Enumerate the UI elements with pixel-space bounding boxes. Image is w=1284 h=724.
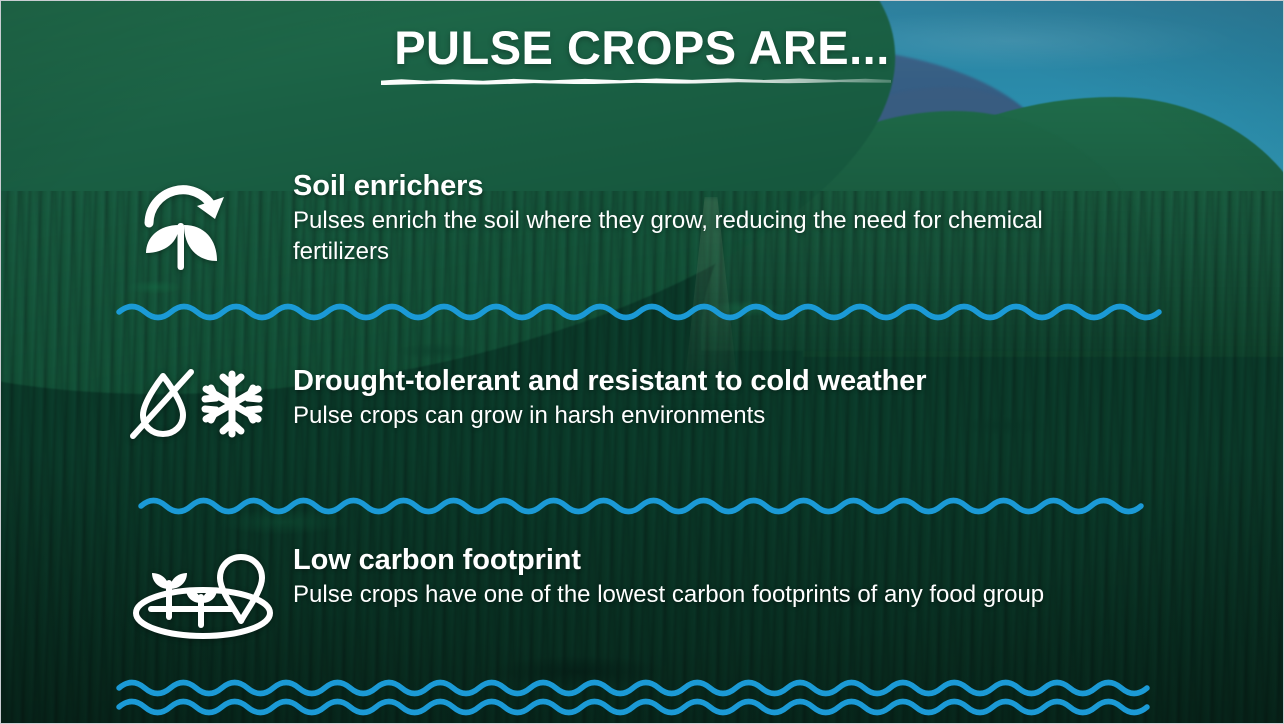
sprouts-field-icon	[129, 543, 279, 643]
feature-heading: Drought-tolerant and resistant to cold w…	[293, 364, 1189, 398]
no-water-snowflake-icon	[129, 364, 279, 440]
wavy-divider-4	[119, 696, 1147, 718]
feature-heading: Soil enrichers	[293, 169, 1189, 203]
wavy-divider-1	[119, 301, 1159, 323]
feature-body: Pulse crops have one of the lowest carbo…	[293, 579, 1103, 610]
soil-renewal-icon	[129, 169, 279, 277]
feature-body: Pulse crops can grow in harsh environmen…	[293, 400, 1173, 431]
feature-text: Drought-tolerant and resistant to cold w…	[279, 364, 1189, 431]
feature-row: Low carbon footprint Pulse crops have on…	[129, 543, 1189, 643]
feature-heading: Low carbon footprint	[293, 543, 1189, 577]
feature-row: Drought-tolerant and resistant to cold w…	[129, 364, 1189, 440]
feature-text: Soil enrichers Pulses enrich the soil wh…	[279, 169, 1189, 268]
infographic-slide: PULSE CROPS ARE...	[0, 0, 1284, 724]
wavy-divider-2	[141, 495, 1141, 517]
slide-content: PULSE CROPS ARE...	[1, 1, 1283, 723]
feature-list: Soil enrichers Pulses enrich the soil wh…	[1, 1, 1283, 723]
feature-text: Low carbon footprint Pulse crops have on…	[279, 543, 1189, 610]
feature-body: Pulses enrich the soil where they grow, …	[293, 205, 1103, 267]
feature-row: Soil enrichers Pulses enrich the soil wh…	[129, 169, 1189, 277]
